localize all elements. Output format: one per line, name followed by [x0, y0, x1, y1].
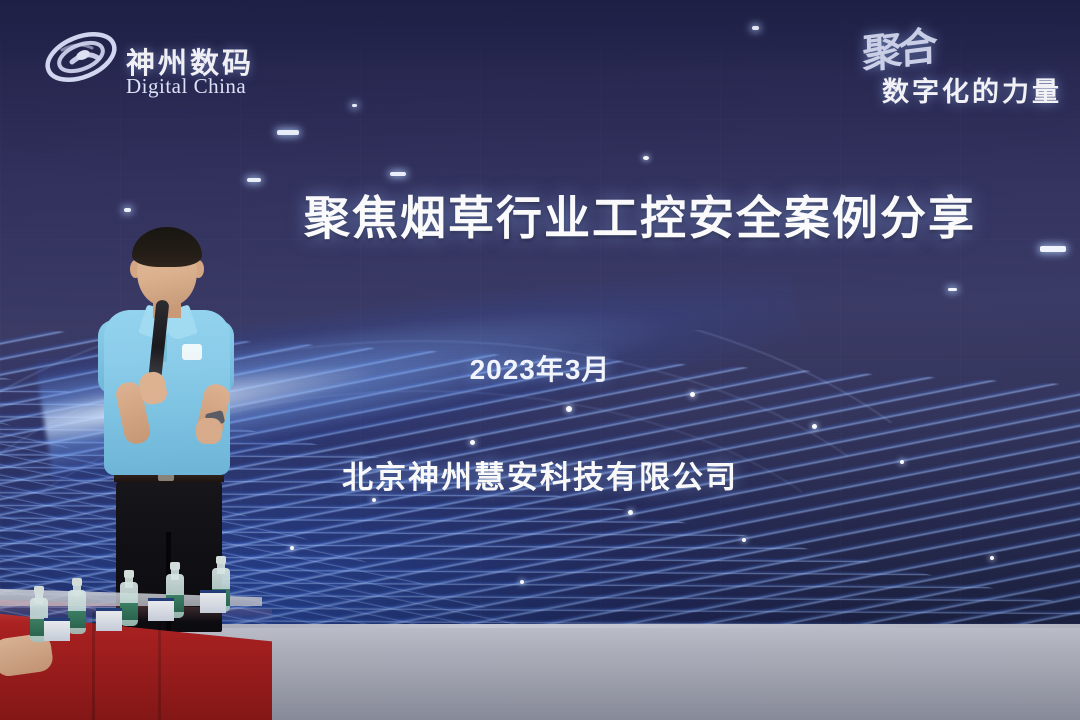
brand-logo: 神州数码 Digital China: [42, 22, 312, 94]
bottle-cap: [124, 570, 134, 578]
brand-name-en: Digital China: [126, 74, 246, 99]
water-bottle: [120, 570, 138, 626]
bottle-cap: [216, 556, 226, 564]
water-bottle: [68, 578, 86, 634]
drape-fold: [92, 612, 95, 720]
slogan-subtitle: 数字化的力量: [882, 70, 1062, 109]
name-card: [96, 608, 122, 631]
stage-photo: 神州数码 Digital China 聚合 数字化的力量 聚焦烟草行业工控安全案…: [0, 0, 1080, 720]
drape-fold: [158, 622, 161, 720]
presenter-hand-right: [196, 418, 222, 444]
bottle-label: [68, 611, 86, 628]
name-card: [148, 598, 174, 621]
name-card: [200, 590, 226, 613]
presenter-chest-logo: [182, 344, 202, 360]
bottle-label: [120, 603, 138, 620]
bottle-cap: [34, 586, 44, 594]
name-card: [44, 618, 70, 641]
event-slogan: 聚合 数字化的力量: [812, 18, 1062, 114]
presenter-hair: [132, 227, 202, 267]
digital-china-swirl-icon: [42, 24, 120, 90]
bottle-cap: [72, 578, 82, 586]
bottle-cap: [170, 562, 180, 570]
slide-title: 聚焦烟草行业工控安全案例分享: [304, 182, 1008, 248]
